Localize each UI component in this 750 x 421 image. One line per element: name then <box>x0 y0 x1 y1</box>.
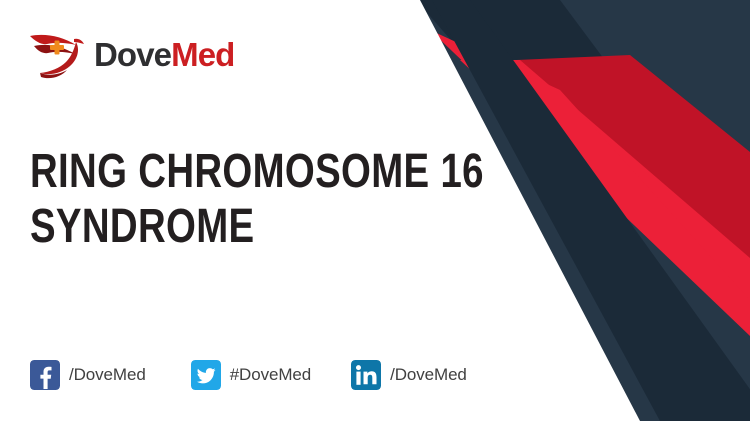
brand-name-med: Med <box>171 36 234 73</box>
twitter-handle: #DoveMed <box>230 365 311 385</box>
social-link-facebook[interactable]: /DoveMed <box>30 358 146 392</box>
brand-name-dove: Dove <box>94 36 171 73</box>
page-title: Ring Chromosome 16 Syndrome <box>30 145 406 254</box>
linkedin-handle: /DoveMed <box>390 365 467 385</box>
brand-wordmark: DoveMed <box>94 38 234 71</box>
dove-with-medical-cross-logo-icon <box>28 26 90 82</box>
social-link-linkedin[interactable]: /DoveMed <box>351 358 467 392</box>
page-title-line-1: Ring Chromosome 16 <box>30 145 406 200</box>
slide-canvas: DoveMed Ring Chromosome 16 Syndrome /Dov… <box>0 0 750 421</box>
facebook-handle: /DoveMed <box>69 365 146 385</box>
linkedin-icon <box>351 360 381 390</box>
facebook-icon <box>30 360 60 390</box>
brand-logo[interactable]: DoveMed <box>28 24 234 84</box>
social-link-twitter[interactable]: #DoveMed <box>191 358 311 392</box>
page-title-line-2: Syndrome <box>30 200 406 255</box>
social-links: /DoveMed #DoveMed /DoveMed <box>30 358 467 392</box>
twitter-icon <box>191 360 221 390</box>
